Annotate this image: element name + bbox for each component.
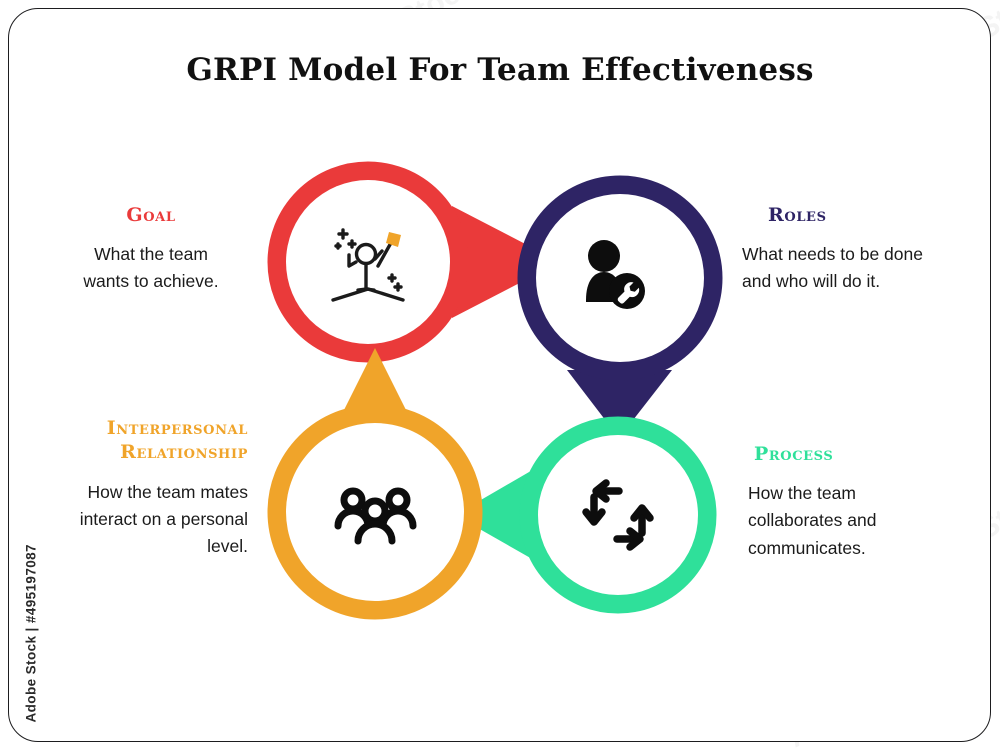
roles-description: What needs to be done and who will do it… xyxy=(742,241,982,295)
goal-heading: Goal xyxy=(40,203,262,227)
roles-heading: Roles xyxy=(742,203,982,227)
node-roles[interactable] xyxy=(527,185,713,438)
process-description: How the team collaborates and communicat… xyxy=(748,480,978,561)
roles-text-block: Roles What needs to be done and who will… xyxy=(742,203,982,296)
process-text-block: Process How the team collaborates and co… xyxy=(748,442,978,562)
diagram-stage: Adobe Stock Adobe Stock Adobe Stock Adob… xyxy=(0,0,1000,750)
grpi-cycle-graphic xyxy=(0,0,1000,750)
relationship-heading: Interpersonal Relationship xyxy=(38,416,248,465)
node-relationship[interactable] xyxy=(277,348,473,610)
process-disc xyxy=(538,435,698,595)
relationship-description: How the team mates interact on a persona… xyxy=(38,479,248,560)
stock-id-watermark: Adobe Stock | #495197087 xyxy=(24,493,39,723)
node-process[interactable] xyxy=(455,426,707,604)
goal-description: What the team wants to achieve. xyxy=(40,241,262,295)
goal-text-block: Goal What the team wants to achieve. xyxy=(40,203,262,296)
relationship-text-block: Interpersonal Relationship How the team … xyxy=(38,416,248,560)
node-goal[interactable] xyxy=(277,171,560,353)
process-heading: Process xyxy=(748,442,978,466)
